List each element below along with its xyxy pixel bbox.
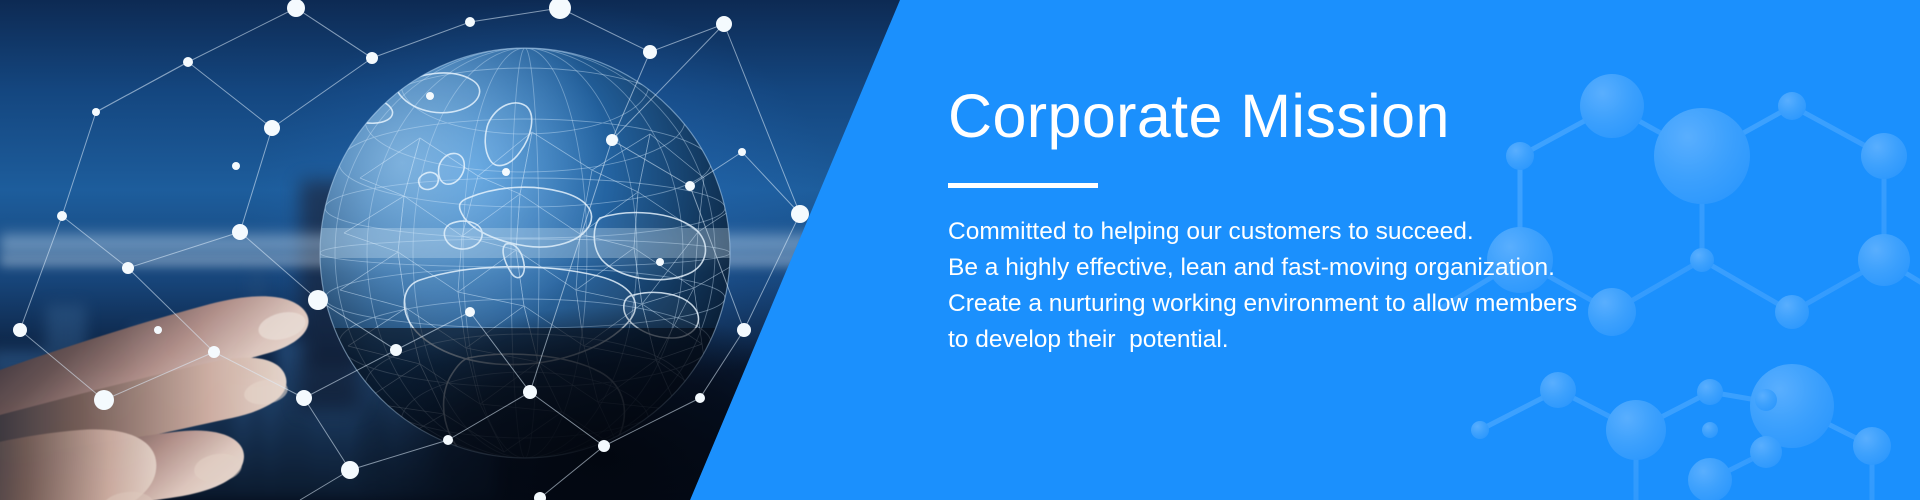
mission-text-block: Corporate Mission Committed to helping o… [948,84,1848,358]
mission-statement-line: Create a nurturing working environment t… [948,286,1848,322]
title-divider [948,183,1098,188]
mission-statement-line: Be a highly effective, lean and fast-mov… [948,250,1848,286]
mission-statement-list: Committed to helping our customers to su… [948,214,1848,358]
mission-statement-line: Committed to helping our customers to su… [948,214,1848,250]
page-title: Corporate Mission [948,84,1848,148]
corporate-mission-banner: Corporate Mission Committed to helping o… [0,0,1920,500]
mission-statement-line: to develop their potential. [948,322,1848,358]
